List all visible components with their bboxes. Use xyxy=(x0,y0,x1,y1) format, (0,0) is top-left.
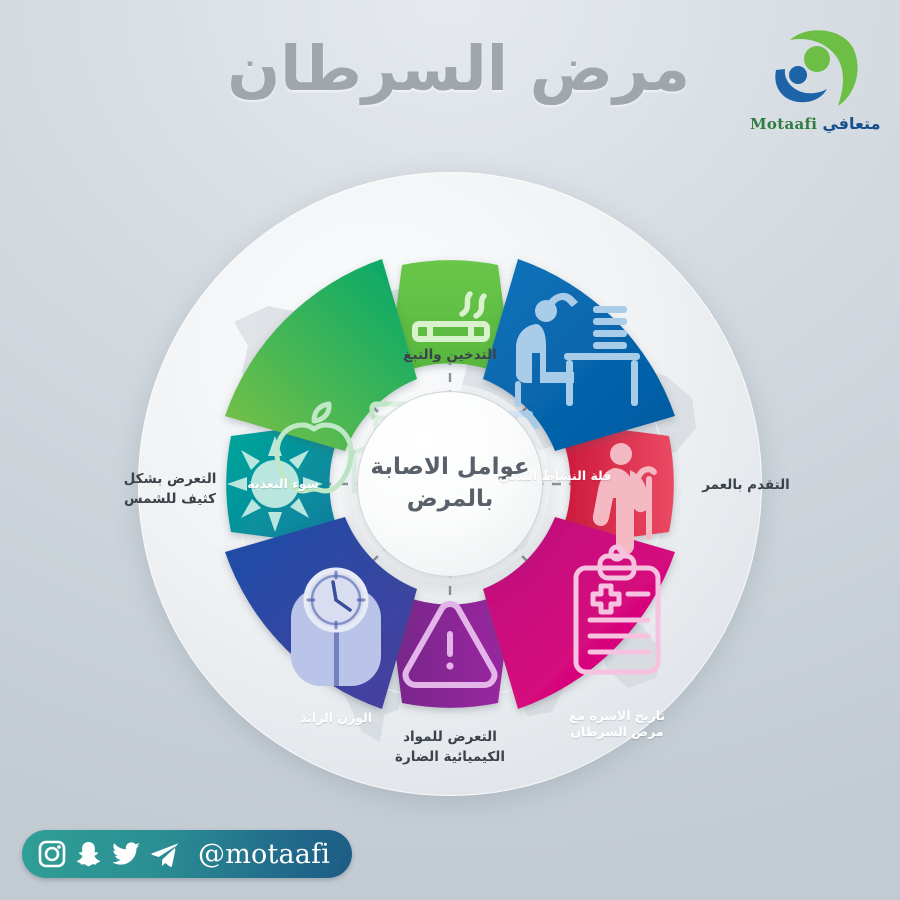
risk-factor-wheel: عوامل الاصابة بالمرض التدخين والتبغ قلة … xyxy=(90,148,810,820)
logo-mark xyxy=(760,28,868,116)
twitter-icon[interactable] xyxy=(111,840,141,868)
wheel-center-label: عوامل الاصابة بالمرض xyxy=(357,452,543,515)
header: مرض السرطان Motaafi متعافي xyxy=(0,0,900,160)
social-handle-pill[interactable]: @motaafi xyxy=(22,830,352,878)
snapchat-icon[interactable] xyxy=(75,840,102,868)
page-title: مرض السرطان xyxy=(170,32,690,105)
logo-text: Motaafi متعافي xyxy=(750,114,878,133)
motaafi-logo: Motaafi متعافي xyxy=(750,28,878,146)
footer: @motaafi xyxy=(0,790,900,900)
wheel-center-hub: عوامل الاصابة بالمرض xyxy=(357,391,543,577)
logo-latin-text: Motaafi xyxy=(750,115,817,133)
telegram-icon[interactable] xyxy=(150,840,180,868)
instagram-icon[interactable] xyxy=(38,840,66,868)
social-handle-text: @motaafi xyxy=(198,839,330,870)
logo-arabic-text: متعافي xyxy=(822,114,880,133)
